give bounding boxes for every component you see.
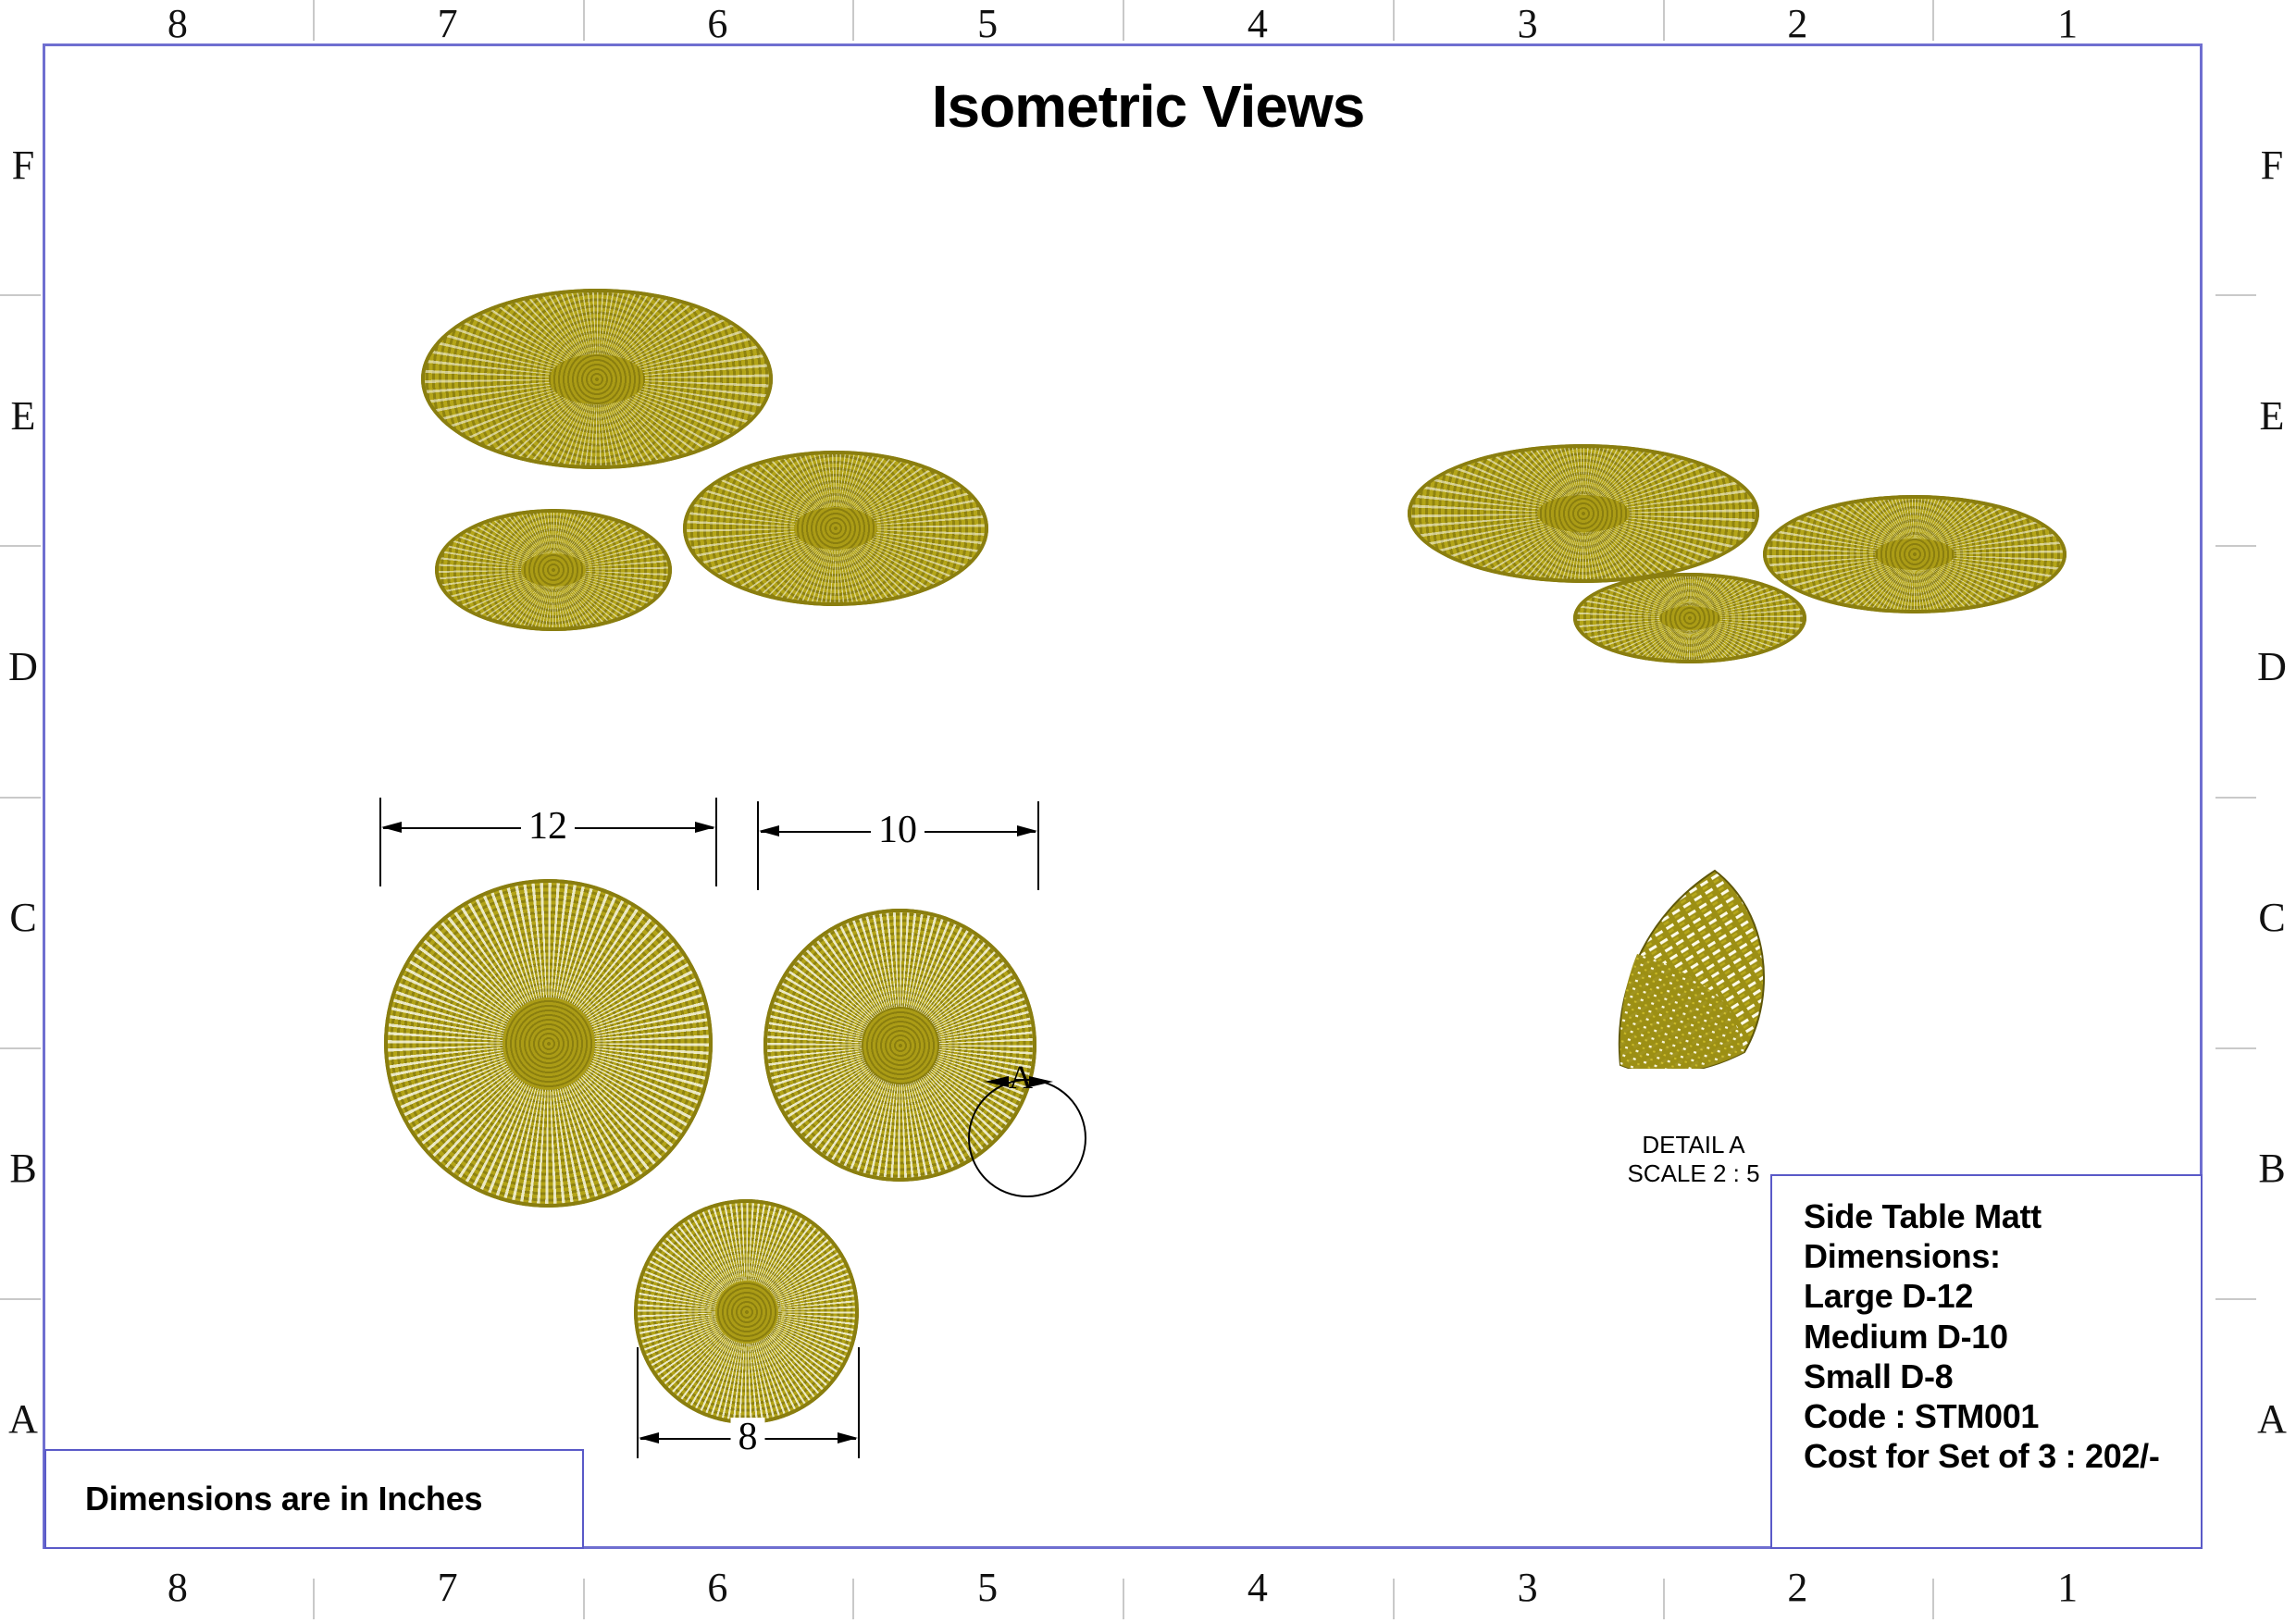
- zone-tick-vertical: [313, 1579, 315, 1619]
- iso-disc-small-right: [1573, 573, 1806, 663]
- zone-tick-vertical: [852, 0, 854, 41]
- zone-tick-horizontal: [0, 294, 41, 296]
- zone-column-7-top: 7: [411, 4, 485, 44]
- zone-column-8-bot: 8: [141, 1567, 215, 1608]
- zone-tick-vertical: [1663, 0, 1665, 41]
- zone-row-B-right: B: [2251, 1148, 2293, 1189]
- dimension-value-small: 8: [731, 1418, 765, 1456]
- units-note-box: Dimensions are in Inches: [44, 1449, 584, 1549]
- title-block-dim-label: Dimensions:: [1804, 1236, 2201, 1276]
- zone-row-A-left: A: [2, 1399, 44, 1440]
- disc-hub: [862, 1007, 939, 1084]
- dimension-arrow-right: [695, 822, 715, 833]
- disc-hub: [794, 507, 877, 550]
- title-block-large: Large D-12: [1804, 1276, 2201, 1316]
- zone-column-5-bot: 5: [950, 1567, 1024, 1608]
- dimension-arrow-left: [759, 825, 779, 836]
- zone-tick-vertical: [583, 1579, 585, 1619]
- iso-disc-large-left: [421, 289, 773, 469]
- dimension-arrow-right: [838, 1432, 858, 1443]
- detail-callout-circle: [968, 1079, 1086, 1197]
- title-block: Side Table Matt Dimensions: Large D-12 M…: [1770, 1174, 2203, 1549]
- disc-hub: [1537, 495, 1630, 532]
- drawing-sheet: 8877665544332211FFEEDDCCBBAA Isometric V…: [0, 0, 2296, 1623]
- zone-column-7-bot: 7: [411, 1567, 485, 1608]
- dimension-arrow-left: [381, 822, 402, 833]
- title-block-medium: Medium D-10: [1804, 1317, 2201, 1357]
- zone-tick-vertical: [1123, 0, 1124, 41]
- zone-row-D-right: D: [2251, 647, 2293, 688]
- zone-column-3-bot: 3: [1491, 1567, 1565, 1608]
- zone-row-E-right: E: [2251, 396, 2293, 437]
- zone-tick-vertical: [1932, 1579, 1934, 1619]
- dimension-value-medium: 10: [871, 811, 925, 849]
- title-block-product: Side Table Matt: [1804, 1196, 2201, 1236]
- zone-row-C-left: C: [2, 898, 44, 938]
- extension-line-right: [858, 1347, 860, 1458]
- iso-disc-small-left: [435, 509, 672, 631]
- detail-callout-arrow-left: [985, 1076, 1009, 1087]
- title-block-cost: Cost for Set of 3 : 202/-: [1804, 1436, 2201, 1476]
- zone-tick-vertical: [852, 1579, 854, 1619]
- zone-row-F-left: F: [2, 145, 44, 186]
- units-note-text: Dimensions are in Inches: [46, 1480, 482, 1518]
- zone-tick-vertical: [583, 0, 585, 41]
- zone-row-F-right: F: [2251, 145, 2293, 186]
- zone-tick-vertical: [313, 0, 315, 41]
- zone-tick-horizontal: [2215, 294, 2256, 296]
- zone-column-4-top: 4: [1221, 4, 1295, 44]
- disc-hub: [521, 553, 586, 587]
- disc-hub: [503, 997, 595, 1090]
- extension-line-right: [1037, 801, 1039, 890]
- zone-tick-horizontal: [0, 797, 41, 799]
- dimension-medium: 10: [757, 801, 1044, 890]
- title-block-code: Code : STM001: [1804, 1396, 2201, 1436]
- dimension-arrow-right: [1017, 825, 1037, 836]
- zone-row-A-right: A: [2251, 1399, 2293, 1440]
- zone-tick-vertical: [1123, 1579, 1124, 1619]
- dimension-small: 8: [637, 1347, 868, 1458]
- disc-hub: [1875, 539, 1955, 570]
- zone-column-6-top: 6: [680, 4, 754, 44]
- disc-hub: [1659, 606, 1720, 630]
- zone-tick-horizontal: [0, 1298, 41, 1300]
- disc-hub: [715, 1281, 778, 1344]
- page-title: Isometric Views: [0, 72, 2296, 141]
- zone-tick-horizontal: [2215, 545, 2256, 547]
- detail-callout-letter: A: [1009, 1060, 1033, 1094]
- zone-column-4-bot: 4: [1221, 1567, 1295, 1608]
- iso-disc-medium-right: [1763, 495, 2066, 613]
- extension-line-left: [379, 798, 381, 886]
- zone-tick-horizontal: [0, 545, 41, 547]
- zone-tick-horizontal: [0, 1047, 41, 1049]
- zone-column-2-top: 2: [1760, 4, 1834, 44]
- iso-disc-medium-left: [683, 451, 988, 606]
- iso-disc-large-right: [1408, 444, 1759, 583]
- title-block-small: Small D-8: [1804, 1357, 2201, 1396]
- zone-tick-vertical: [1932, 0, 1934, 41]
- zone-row-D-left: D: [2, 647, 44, 688]
- zone-column-5-top: 5: [950, 4, 1024, 44]
- dimension-large: 12: [379, 798, 717, 886]
- zone-column-6-bot: 6: [680, 1567, 754, 1608]
- zone-tick-horizontal: [2215, 1298, 2256, 1300]
- detail-wedge-shape: [1606, 856, 1781, 1069]
- plan-disc-large: [384, 879, 713, 1208]
- zone-row-B-left: B: [2, 1148, 44, 1189]
- extension-line-right: [715, 798, 717, 886]
- zone-tick-vertical: [1393, 0, 1395, 41]
- extension-line-left: [757, 801, 759, 890]
- zone-row-E-left: E: [2, 396, 44, 437]
- zone-tick-vertical: [1663, 1579, 1665, 1619]
- zone-row-C-right: C: [2251, 898, 2293, 938]
- zone-tick-vertical: [1393, 1579, 1395, 1619]
- zone-column-3-top: 3: [1491, 4, 1565, 44]
- zone-tick-horizontal: [2215, 1047, 2256, 1049]
- zone-tick-horizontal: [2215, 797, 2256, 799]
- zone-column-1-bot: 1: [2030, 1567, 2104, 1608]
- dimension-arrow-left: [639, 1432, 659, 1443]
- zone-column-2-bot: 2: [1760, 1567, 1834, 1608]
- zone-column-1-top: 1: [2030, 4, 2104, 44]
- disc-hub: [549, 354, 645, 404]
- zone-column-8-top: 8: [141, 4, 215, 44]
- dimension-value-large: 12: [521, 807, 575, 846]
